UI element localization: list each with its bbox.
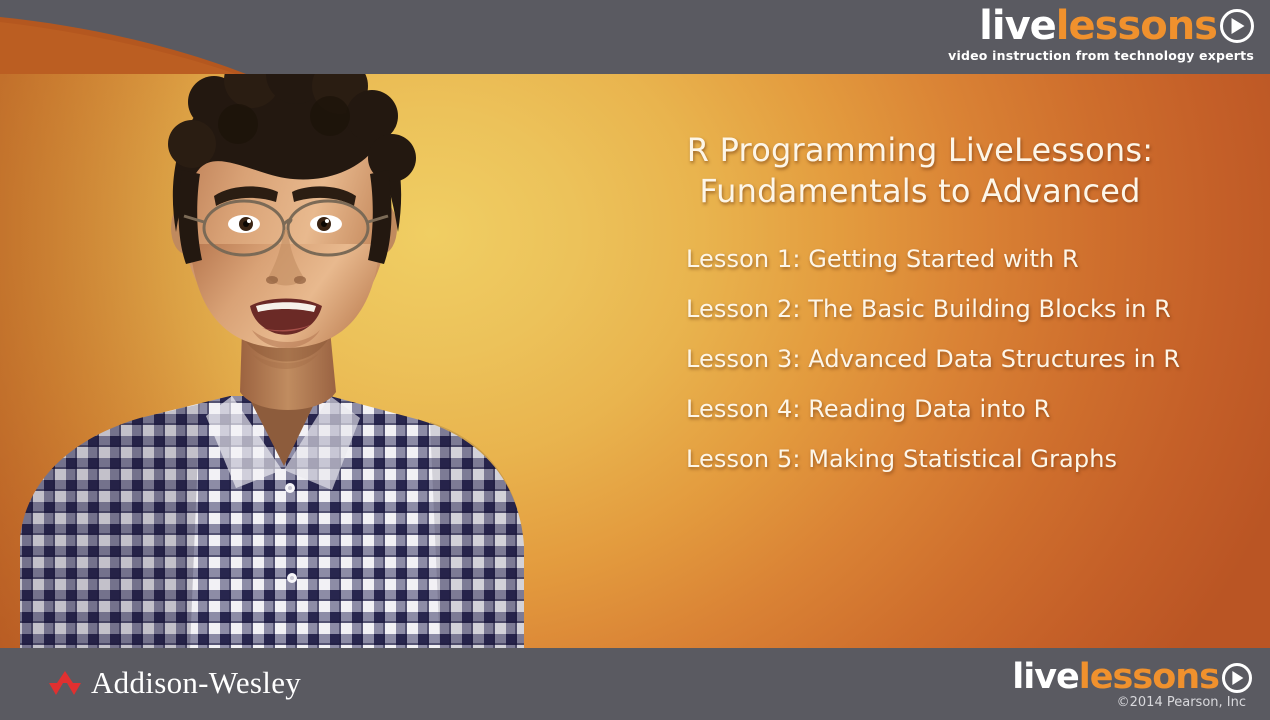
- footer-band: Addison-Wesley live lessons ©2014 Pearso…: [0, 648, 1270, 720]
- list-item: Lesson 4: Reading Data into R: [686, 384, 1220, 434]
- livelessons-logo-footer: live lessons ©2014 Pearson, Inc: [1012, 660, 1252, 709]
- logo-word-live: live: [979, 6, 1056, 46]
- list-item: Lesson 2: The Basic Building Blocks in R: [686, 284, 1220, 334]
- play-circle-icon: [1220, 9, 1254, 43]
- logo-tagline: video instruction from technology expert…: [948, 50, 1254, 63]
- presenter-figure: [0, 18, 560, 650]
- publisher-name: Addison-Wesley: [91, 665, 301, 701]
- livelessons-logo-header: live lessons video instruction from tech…: [948, 6, 1254, 63]
- title-line-1: R Programming LiveLessons:: [620, 130, 1220, 171]
- list-item: Lesson 1: Getting Started with R: [686, 234, 1220, 284]
- logo-word-lessons: lessons: [1079, 660, 1219, 695]
- header-band: live lessons video instruction from tech…: [0, 0, 1270, 74]
- page-title: R Programming LiveLessons: Fundamentals …: [620, 130, 1220, 212]
- list-item: Lesson 5: Making Statistical Graphs: [686, 434, 1220, 484]
- play-circle-icon: [1222, 663, 1252, 693]
- slide-content: R Programming LiveLessons: Fundamentals …: [620, 130, 1220, 484]
- addison-wesley-logo: Addison-Wesley: [48, 665, 301, 701]
- video-frame: R Programming LiveLessons: Fundamentals …: [0, 0, 1270, 720]
- logo-word-lessons: lessons: [1056, 6, 1217, 46]
- addison-wesley-triangles-icon: [48, 670, 82, 696]
- list-item: Lesson 3: Advanced Data Structures in R: [686, 334, 1220, 384]
- title-line-2: Fundamentals to Advanced: [620, 171, 1220, 212]
- lesson-list: Lesson 1: Getting Started with R Lesson …: [620, 234, 1220, 484]
- copyright-text: ©2014 Pearson, Inc: [1117, 696, 1252, 709]
- logo-word-live: live: [1012, 660, 1079, 695]
